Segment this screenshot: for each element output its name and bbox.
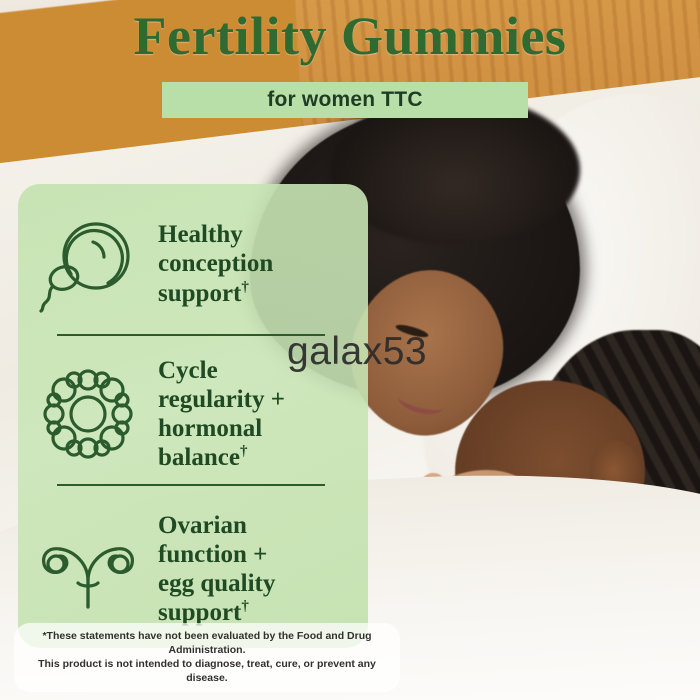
benefit-divider-1 — [57, 334, 325, 336]
benefit-line: balance† — [158, 443, 285, 472]
egg-and-sperm-icon — [18, 194, 158, 334]
uterus-ovaries-icon — [18, 494, 158, 644]
benefits-card: Healthy conception support† — [18, 184, 368, 648]
disclaimer-line-1: *These statements have not been evaluate… — [24, 629, 390, 657]
benefit-text-cycle-regularity: Cycle regularity + hormonal balance† — [158, 356, 293, 473]
benefit-line: conception — [158, 249, 273, 278]
cycle-circles-icon — [18, 344, 158, 484]
benefit-text-ovarian-function: Ovarian function + egg quality support† — [158, 511, 283, 628]
dagger-symbol: † — [240, 444, 248, 460]
benefit-divider-2 — [57, 484, 325, 486]
subtitle-text: for women TTC — [267, 88, 422, 112]
benefit-line: hormonal — [158, 414, 285, 443]
fda-disclaimer: *These statements have not been evaluate… — [14, 623, 400, 692]
benefit-line: Healthy — [158, 220, 273, 249]
benefit-line: Ovarian — [158, 511, 275, 540]
dagger-symbol: † — [241, 279, 249, 295]
benefit-text-healthy-conception: Healthy conception support† — [158, 220, 281, 308]
benefit-item-healthy-conception: Healthy conception support† — [18, 194, 368, 334]
subtitle-banner: for women TTC — [162, 82, 528, 118]
benefit-item-ovarian-function: Ovarian function + egg quality support† — [18, 494, 368, 644]
product-marketing-image: Fertility Gummies for women TTC Hea — [0, 0, 700, 700]
dagger-symbol: † — [241, 599, 249, 615]
benefit-line: function + — [158, 540, 275, 569]
page-title: Fertility Gummies — [0, 8, 700, 65]
benefit-line: egg quality — [158, 569, 275, 598]
disclaimer-line-2: This product is not intended to diagnose… — [24, 657, 390, 685]
watermark-text: galax53 — [287, 330, 427, 374]
benefit-line: support† — [158, 279, 273, 308]
benefit-line: regularity + — [158, 385, 285, 414]
benefit-line: Cycle — [158, 356, 285, 385]
